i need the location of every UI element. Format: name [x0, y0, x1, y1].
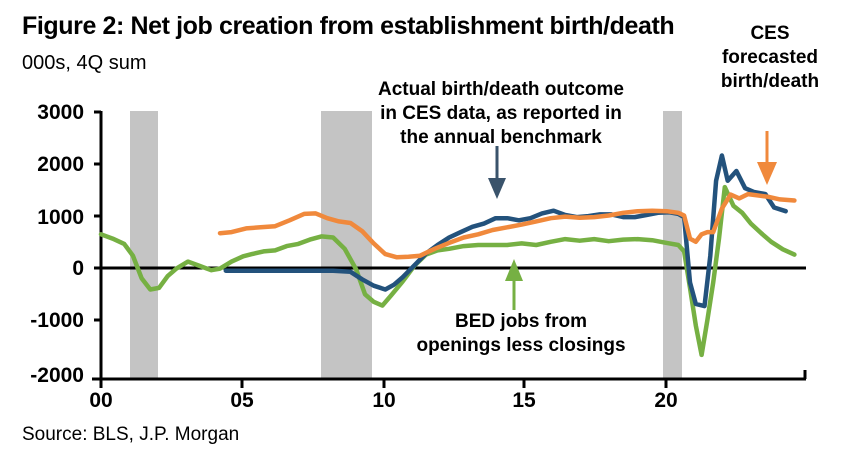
- recession-band-2008: [321, 111, 372, 379]
- annotation-navy-line3: the annual benchmark: [356, 126, 646, 150]
- orange-annotation-arrow: [757, 131, 777, 185]
- annotation-navy-line2: in CES data, as reported in: [356, 102, 646, 126]
- recession-band-2001: [130, 111, 158, 379]
- annotation-green-line1: BED jobs from: [406, 310, 636, 334]
- annotation-navy: Actual birth/death outcome in CES data, …: [356, 78, 646, 150]
- annotation-green: BED jobs from openings less closings: [406, 310, 636, 358]
- figure-container: Figure 2: Net job creation from establis…: [0, 0, 852, 459]
- annotation-orange-line3: birth/death: [700, 70, 840, 94]
- annotation-orange-line2: forecasted: [700, 46, 840, 70]
- annotation-green-line2: openings less closings: [406, 334, 636, 358]
- series-line-ces-forecast: [220, 194, 794, 257]
- annotation-orange-line1: CES: [700, 22, 840, 46]
- annotation-orange: CES forecasted birth/death: [700, 22, 840, 94]
- source-note: Source: BLS, J.P. Morgan: [22, 424, 239, 446]
- annotation-navy-line1: Actual birth/death outcome: [356, 78, 646, 102]
- navy-annotation-arrow: [488, 146, 506, 199]
